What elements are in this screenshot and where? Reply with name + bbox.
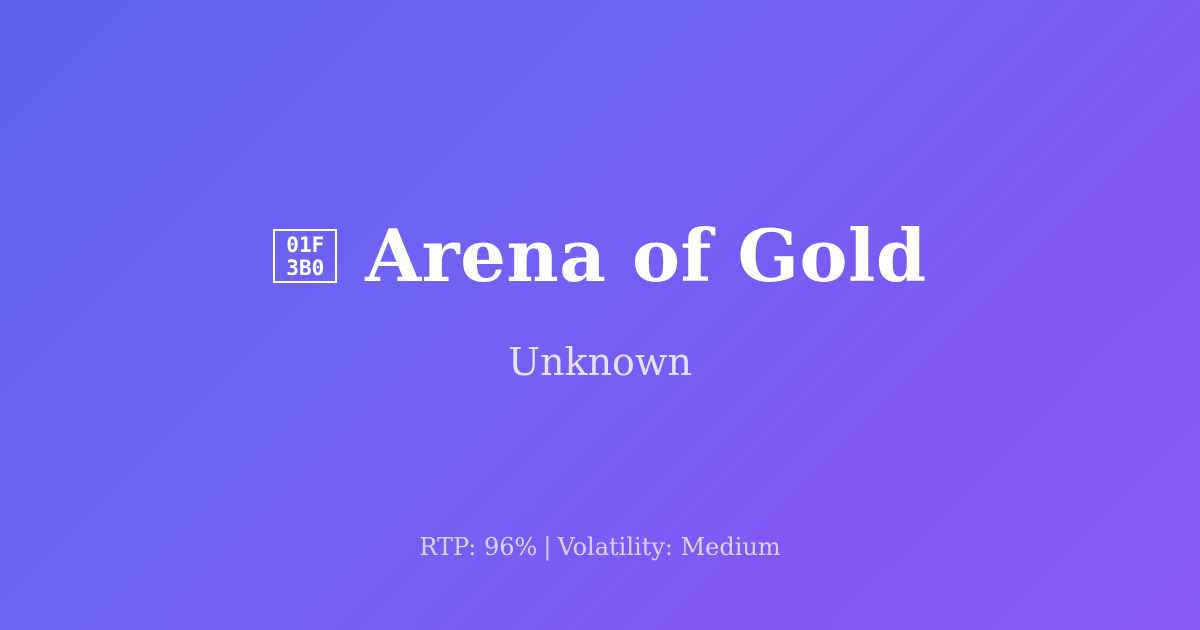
rtp-value: RTP: 96% (419, 533, 537, 561)
volatility-value: Volatility: Medium (557, 533, 780, 561)
page-title: Arena of Gold (365, 218, 926, 294)
slot-machine-tofu-icon: 01F 3B0 (273, 229, 337, 283)
card-subtitle: Unknown (508, 294, 692, 386)
footer-separator: | (537, 533, 557, 561)
tofu-codepoint-row-top: 01F (286, 234, 324, 257)
tofu-codepoint-row-bottom: 3B0 (286, 257, 324, 280)
card-footer-meta: RTP: 96%|Volatility: Medium (0, 533, 1200, 562)
title-row: 01F 3B0 Arena of Gold (273, 218, 926, 294)
og-card: 01F 3B0 Arena of Gold Unknown RTP: 96%|V… (0, 0, 1200, 630)
